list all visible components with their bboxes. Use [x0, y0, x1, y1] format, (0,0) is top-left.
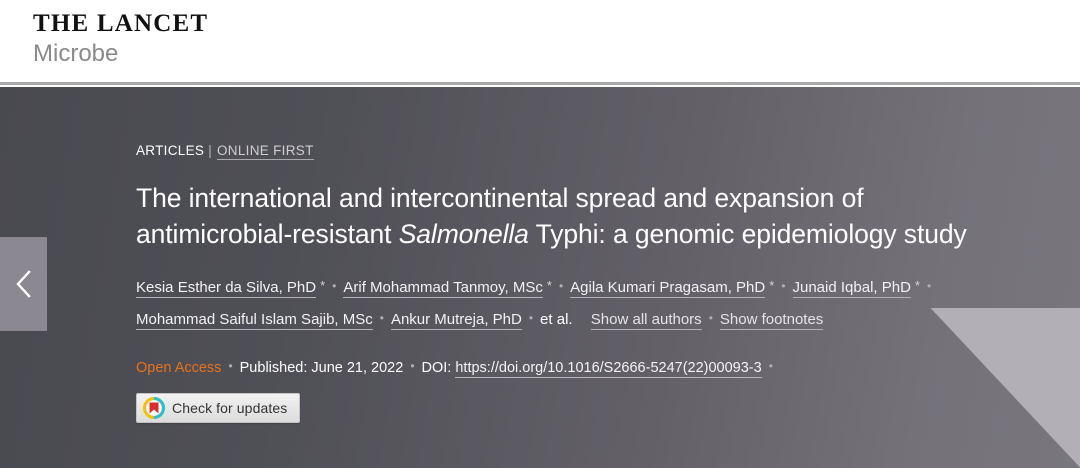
- meta-separator: •: [228, 359, 232, 373]
- show-footnotes-link[interactable]: Show footnotes: [720, 311, 823, 330]
- carousel-previous-button[interactable]: [0, 237, 47, 331]
- published-date: June 21, 2022: [311, 360, 403, 376]
- author-separator: •: [332, 279, 336, 293]
- author-link[interactable]: Agila Kumari Pragasam, PhD: [570, 279, 765, 298]
- brand-title: THE LANCET: [33, 10, 208, 38]
- et-al-label: et al.: [540, 311, 573, 328]
- author-footnote-marker: *: [769, 278, 774, 293]
- author-link[interactable]: Junaid Iqbal, PhD: [793, 279, 911, 298]
- author-footnote-marker: *: [320, 278, 325, 293]
- crossmark-logo-icon: [143, 397, 165, 419]
- kicker-online-first-link[interactable]: ONLINE FIRST: [217, 143, 314, 160]
- kicker-separator: |: [208, 143, 212, 158]
- article-title-italic-species: Salmonella: [399, 219, 529, 249]
- chevron-left-icon: [14, 268, 34, 300]
- author-link[interactable]: Arif Mohammad Tanmoy, MSc: [343, 279, 543, 298]
- doi-label: DOI:: [422, 360, 452, 376]
- article-summary: ARTICLES|ONLINE FIRST The international …: [136, 143, 1036, 424]
- publication-metadata: Open Access•Published: June 21, 2022•DOI…: [136, 356, 1036, 378]
- article-kicker: ARTICLES|ONLINE FIRST: [136, 143, 1036, 159]
- crossmark-label: Check for updates: [172, 400, 287, 416]
- author-separator: •: [927, 279, 931, 293]
- meta-separator: •: [769, 359, 773, 373]
- author-link[interactable]: Kesia Esther da Silva, PhD: [136, 279, 316, 298]
- author-separator: •: [709, 311, 713, 325]
- author-separator: •: [559, 279, 563, 293]
- meta-separator: •: [410, 359, 414, 373]
- site-masthead: THE LANCET Microbe: [0, 0, 1080, 82]
- author-separator: •: [781, 279, 785, 293]
- author-link[interactable]: Ankur Mutreja, PhD: [391, 311, 522, 330]
- article-hero-banner: ARTICLES|ONLINE FIRST The international …: [0, 87, 1080, 468]
- author-separator: •: [380, 311, 384, 325]
- open-access-label[interactable]: Open Access: [136, 360, 221, 376]
- article-authors: Kesia Esther da Silva, PhD*•Arif Mohamma…: [136, 271, 1016, 335]
- article-title: The international and intercontinental s…: [136, 180, 1016, 252]
- decorative-diagonal-line: [971, 455, 1080, 468]
- author-footnote-marker: *: [915, 278, 920, 293]
- crossmark-check-for-updates-button[interactable]: Check for updates: [136, 393, 300, 423]
- author-separator: •: [529, 311, 533, 325]
- author-footnote-marker: *: [547, 278, 552, 293]
- kicker-section: ARTICLES: [136, 143, 204, 158]
- brand-subtitle: Microbe: [33, 39, 208, 69]
- author-link[interactable]: Mohammad Saiful Islam Sajib, MSc: [136, 311, 373, 330]
- lancet-microbe-logo[interactable]: THE LANCET Microbe: [33, 10, 208, 69]
- show-all-authors-link[interactable]: Show all authors: [591, 311, 702, 330]
- article-title-part2: Typhi: a genomic epidemiology study: [529, 219, 967, 249]
- published-label: Published:: [240, 360, 308, 376]
- doi-link[interactable]: https://doi.org/10.1016/S2666-5247(22)00…: [455, 360, 761, 378]
